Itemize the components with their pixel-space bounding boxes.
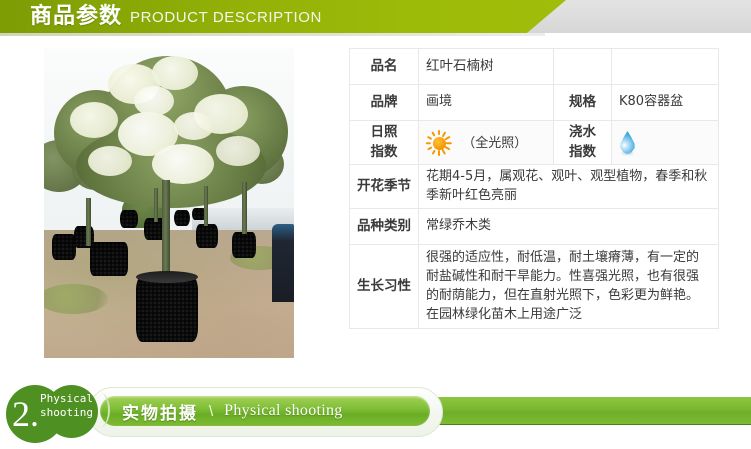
photo-main-container-pot xyxy=(136,276,198,342)
photo-background-trunk xyxy=(204,186,208,226)
banner-title-group: 实物拍摄 \ Physical shooting xyxy=(122,397,343,425)
canopy-flower-cluster xyxy=(152,56,198,90)
photo-background-pot xyxy=(232,232,256,258)
sun-icon xyxy=(426,130,452,156)
spec-value-product-name: 红叶石楠树 xyxy=(419,49,554,85)
spec-label-product-name: 品名 xyxy=(350,49,419,85)
badge-label-en: Physical shooting xyxy=(40,392,93,420)
spec-value-watering-index xyxy=(612,121,719,165)
photo-background-pot xyxy=(120,210,138,228)
spec-label-sunlight-index: 日照 指数 xyxy=(350,121,419,165)
photo-background-trunk xyxy=(154,188,158,222)
table-row: 品名 红叶石楠树 xyxy=(350,49,719,85)
header-divider xyxy=(0,33,751,40)
canopy-flower-cluster xyxy=(152,144,214,184)
table-row: 日照 指数 （全光照） 浇水 xyxy=(350,121,719,165)
table-row: 品种类别 常绿乔木类 xyxy=(350,209,719,245)
step-badge: 2. Physical shooting xyxy=(2,384,114,444)
page-title-cn: 商品参数 xyxy=(30,6,122,28)
canopy-flower-cluster xyxy=(216,136,260,166)
photo-background-trunk xyxy=(86,198,91,246)
spec-label-specification: 规格 xyxy=(554,85,612,121)
photo-main-trunk xyxy=(162,180,170,280)
spec-value-sunlight-index: （全光照） xyxy=(419,121,554,165)
badge-step-number: 2. xyxy=(12,396,39,432)
photo-background-pot xyxy=(196,224,218,248)
spec-value-growth-habit: 很强的适应性，耐低温，耐土壤瘠薄，有一定的耐盐碱性和耐干旱能力。性喜强光照，也有… xyxy=(419,245,719,329)
badge-label-line1: Physical xyxy=(40,392,93,406)
spec-value-sunlight-text: （全光照） xyxy=(462,136,527,151)
spec-value-empty-1 xyxy=(612,49,719,85)
photo-background-trunk xyxy=(242,182,247,234)
spec-label-category: 品种类别 xyxy=(350,209,419,245)
spec-table: 品名 红叶石楠树 品牌 画境 规格 K80容器盆 日照 指数 xyxy=(349,48,719,329)
page-title-en: PRODUCT DESCRIPTION xyxy=(130,9,322,26)
canopy-flower-cluster xyxy=(134,86,174,116)
spec-label-brand: 品牌 xyxy=(350,85,419,121)
photo-background-pot xyxy=(90,242,128,276)
spec-label-watering-line2: 指数 xyxy=(561,143,604,163)
photo-background-pot xyxy=(174,210,190,226)
canopy-flower-cluster xyxy=(70,102,118,138)
photo-person xyxy=(272,224,294,302)
water-drop-icon xyxy=(619,131,636,154)
table-row: 生长习性 很强的适应性，耐低温，耐土壤瘠薄，有一定的耐盐碱性和耐干旱能力。性喜强… xyxy=(350,245,719,329)
product-description-page: 商品参数 PRODUCT DESCRIPTION xyxy=(0,0,751,449)
section-physical-shooting-banner: 实物拍摄 \ Physical shooting 2. Physical sho… xyxy=(0,384,751,444)
spec-label-empty-1 xyxy=(554,49,612,85)
banner-title-cn: 实物拍摄 xyxy=(122,399,198,424)
spec-value-brand: 画境 xyxy=(419,85,554,121)
spec-label-growth-habit: 生长习性 xyxy=(350,245,419,329)
spec-value-specification: K80容器盆 xyxy=(612,85,719,121)
spec-label-sunlight-line1: 日照 xyxy=(357,123,411,143)
spec-label-sunlight-line2: 指数 xyxy=(357,143,411,163)
spec-label-watering-line1: 浇水 xyxy=(561,123,604,143)
banner-title-en: Physical shooting xyxy=(224,402,342,420)
badge-label-line2: shooting xyxy=(40,406,93,420)
canopy-flower-cluster xyxy=(88,146,132,176)
section-header: 商品参数 PRODUCT DESCRIPTION xyxy=(0,0,751,40)
spec-label-watering-index: 浇水 指数 xyxy=(554,121,612,165)
banner-separator: \ xyxy=(209,403,213,420)
product-photo xyxy=(44,48,294,358)
photo-background-pot xyxy=(52,234,76,260)
canopy-flower-cluster xyxy=(174,112,214,140)
spec-value-category: 常绿乔木类 xyxy=(419,209,719,245)
header-title-group: 商品参数 PRODUCT DESCRIPTION xyxy=(30,0,322,33)
table-row: 开花季节 花期4-5月，属观花、观叶、观型植物，春季和秋季新叶红色亮丽 xyxy=(350,165,719,209)
table-row: 品牌 画境 规格 K80容器盆 xyxy=(350,85,719,121)
spec-value-blooming-season: 花期4-5月，属观花、观叶、观型植物，春季和秋季新叶红色亮丽 xyxy=(419,165,719,209)
spec-label-blooming-season: 开花季节 xyxy=(350,165,419,209)
badge-hook-decoration xyxy=(94,393,110,427)
